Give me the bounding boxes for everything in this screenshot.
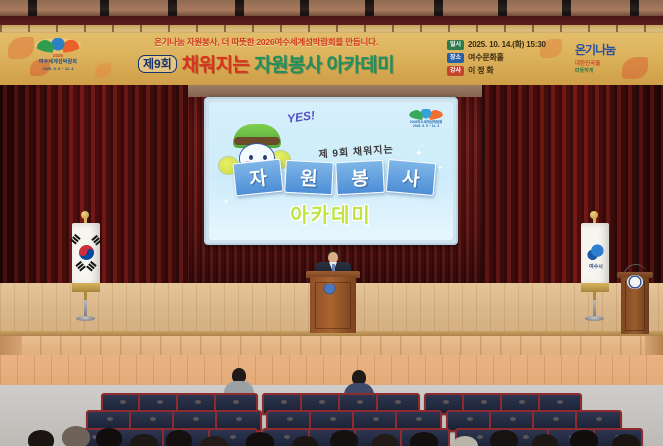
side-podium-emblem-icon [627,275,643,289]
slide-title-card: 원 [284,160,334,195]
info-row-speaker: 강사 이 정 화 [447,65,559,76]
city-flag: 여수시 [566,216,622,326]
stage-light-icon [100,0,109,16]
stage-light-icon [300,0,309,16]
audience-head [410,432,438,446]
slide-title-card: 봉 [335,160,385,195]
stage-light-icon [235,0,244,16]
ongi-nanum-logo: 온기나눔 대한민국을 따뜻하게 [575,41,655,79]
trigram-icon [74,234,80,240]
slide-title-cards: 자 원 봉 사 [228,161,440,194]
info-tag-speaker: 강사 [447,66,464,76]
flag-fringe [72,283,100,292]
banner-subtitle: 온기나눔 자원봉사, 더 따뜻한 2026여수세계섬박람회를 만듭니다. [100,36,432,48]
trigram-icon [75,261,81,267]
expo-logo-dates: 2026. 5. 5 ~ 11. 4 [22,66,94,71]
stage-light-icon [498,0,507,16]
banner-title-red: 채워지는 [182,50,250,77]
flag-base-stand [585,300,604,322]
ongi-logo-line2: 대한민국을 [575,59,655,67]
sparkle-icon: ✦ [437,164,443,172]
banner-edition-badge: 제9회 [138,55,177,73]
flag-base-stand [76,300,95,322]
presentation-slide: YES! 2026여수세계섬박람회 2026. 5. 5 ~ 11. 4 [209,102,453,240]
ongi-logo-line1: 온기나눔 [575,41,655,58]
slide-subtitle: 제 9회 채워지는 [281,138,432,163]
side-podium [617,264,653,334]
ongi-logo-line3: 따뜻하게 [575,67,655,74]
audience-head [246,432,274,446]
wall-top-band [188,85,482,97]
slide-title-card: 사 [385,159,436,196]
event-info-box: 일시 2025. 10. 14.(화) 15:30 장소 여수문화홀 강사 이 … [447,39,559,78]
flag-cloth: 여수시 [581,223,609,285]
projection-screen: YES! 2026여수세계섬박람회 2026. 5. 5 ~ 11. 4 [204,97,458,245]
audience-head [166,430,192,446]
audience-head [96,428,122,446]
info-tag-date: 일시 [447,40,464,50]
banner-text-group: 온기나눔 자원봉사, 더 따뜻한 2026여수세계섬박람회를 만듭니다. 제9회… [100,36,432,77]
stage-light-icon [630,0,639,16]
stage-light-icon [28,0,37,16]
city-emblem-icon [586,243,605,262]
mascot-eye-left-icon [249,155,253,160]
audience-head [28,430,54,446]
audience-head [330,430,358,446]
slide-expo-dates: 2026. 5. 5 ~ 11. 4 [406,124,446,128]
info-value-date: 2025. 10. 14.(화) 15:30 [468,39,546,50]
auditorium-stage-photo: 2026 여수세계섬박람회 2026. 5. 5 ~ 11. 4 온기나눔 자원… [0,0,663,446]
banner-title-green: 자원봉사 아카데미 [254,50,394,77]
slide-academy-text: 아카데미 [209,199,453,228]
expo-mark-icon [35,38,81,53]
expo-logo-name: 여수세계섬박람회 [22,59,94,66]
sparkle-icon: ✦ [415,148,423,159]
sparkle-icon: ✦ [223,198,229,206]
flag-fringe [581,283,609,292]
stage-light-icon [562,0,571,16]
info-value-place: 여수문화홀 [468,52,504,63]
info-tag-place: 장소 [447,53,464,63]
stage-light-icon [365,0,374,16]
taegeuk-symbol-icon [79,245,94,260]
stage-light-icon [168,0,177,16]
main-podium [306,271,360,333]
korean-national-flag [57,216,113,326]
trigram-icon [91,235,97,241]
info-value-speaker: 이 정 화 [468,65,494,76]
audience-head [570,430,598,446]
expo-logo-left: 2026 여수세계섬박람회 2026. 5. 5 ~ 11. 4 [22,38,94,80]
podium-emblem-icon [323,284,336,295]
expo-logo-year: 2026 [22,53,94,58]
stage-light-icon [434,0,443,16]
flag-cloth [72,223,100,285]
trigram-icon [90,261,96,267]
slide-expo-mark-icon [409,109,443,120]
info-row-place: 장소 여수문화홀 [447,52,559,63]
slide-expo-logo: 2026여수세계섬박람회 2026. 5. 5 ~ 11. 4 [406,109,446,131]
slide-title-card: 자 [232,159,283,197]
audience-head [62,426,90,446]
city-flag-label: 여수시 [583,263,609,270]
event-banner: 2026 여수세계섬박람회 2026. 5. 5 ~ 11. 4 온기나눔 자원… [0,33,663,85]
audience-head [490,430,518,446]
info-row-date: 일시 2025. 10. 14.(화) 15:30 [447,39,559,50]
